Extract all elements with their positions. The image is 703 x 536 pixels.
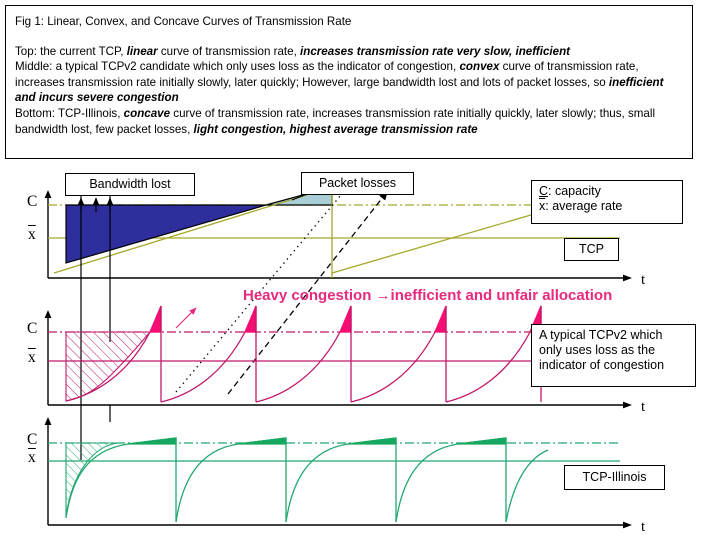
- legend-box: C: capacity x: average rate: [531, 180, 683, 224]
- tcp-x-axis-arrow: [623, 275, 632, 282]
- tcpv2-capacity-axis-label: C: [27, 320, 37, 338]
- tcpv2-time-axis-label: t: [641, 399, 646, 415]
- illinois-time-axis-label: t: [641, 519, 646, 535]
- tcp-bandwidth-lost-region: [66, 205, 266, 263]
- tcp-time-axis-label: t: [641, 272, 646, 288]
- legend-capacity-row: C: capacity: [539, 184, 675, 199]
- tcpv2-y-axis-arrow: [45, 310, 52, 318]
- illinois-y-axis-arrow: [45, 417, 52, 425]
- illinois-bandwidth-lost-region: [66, 443, 118, 518]
- tcp-illinois-label: TCP-Illinois: [564, 465, 665, 490]
- figure-title: Fig 1: Linear, Convex, and Concave Curve…: [15, 14, 683, 30]
- tcp-average-axis-label: x: [28, 226, 36, 244]
- bandwidth-lost-label: Bandwidth lost: [65, 173, 195, 196]
- tcpv2-bandwidth-lost-region: [66, 332, 150, 401]
- illinois-capacity-axis-label: C: [27, 431, 37, 449]
- tcpv2-description-label: A typical TCPv2 which only uses loss as …: [531, 324, 696, 387]
- tcpv2-x-axis-arrow: [623, 402, 632, 409]
- illinois-concave-curve: [66, 438, 548, 522]
- caption-line-bottom: Bottom: TCP-Illinois, concave curve of t…: [15, 106, 683, 137]
- illinois-x-axis-arrow: [623, 522, 632, 529]
- tcpv2-average-axis-label: x: [28, 349, 36, 367]
- caption-line-middle: Middle: a typical TCPv2 candidate which …: [15, 59, 683, 106]
- figure-caption-text: Fig 1: Linear, Convex, and Concave Curve…: [6, 6, 692, 137]
- legend-average-row: x: average rate: [539, 199, 675, 214]
- illinois-average-axis-label: x: [28, 449, 36, 467]
- legend-capacity-symbol: C: [539, 184, 548, 198]
- legend-average-text: : average rate: [545, 199, 622, 213]
- figure-caption-box: Fig 1: Linear, Convex, and Concave Curve…: [5, 5, 693, 159]
- legend-capacity-text: : capacity: [548, 184, 601, 198]
- tcp-label: TCP: [564, 238, 619, 261]
- heavy-congestion-headline: Heavy congestion →inefficient and unfair…: [243, 287, 612, 304]
- chart-tcp-illinois-concave: t: [45, 417, 646, 535]
- tcp-capacity-axis-label: C: [27, 193, 37, 211]
- tcpv2-convex-curve: [66, 306, 541, 402]
- packet-losses-label: Packet losses: [301, 172, 414, 195]
- caption-line-top: Top: the current TCP, linear curve of tr…: [15, 44, 683, 60]
- heavy-congestion-pointer: [176, 308, 196, 328]
- tcp-y-axis-arrow: [45, 190, 52, 198]
